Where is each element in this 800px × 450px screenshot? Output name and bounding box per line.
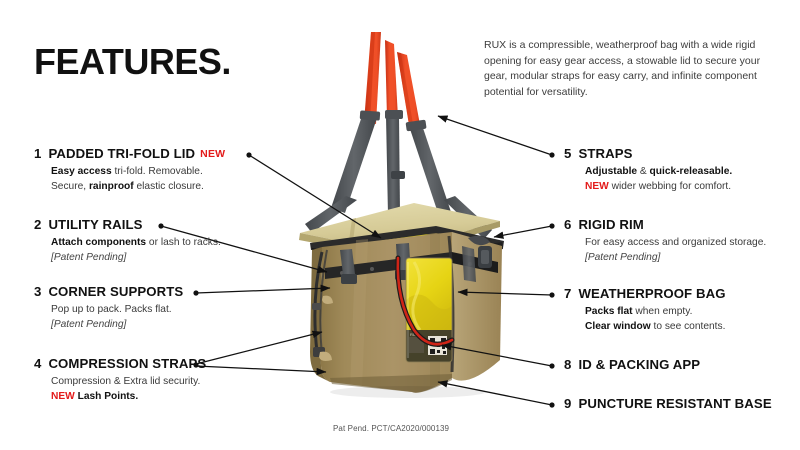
feature-heading-7: 7WEATHERPROOF BAG — [564, 286, 726, 301]
patent-footnote: Pat Pend. PCT/CA2020/000139 — [333, 424, 449, 433]
feature-number-7: 7 — [564, 286, 571, 301]
feature-body-line: Easy access tri-fold. Removable. — [51, 165, 225, 180]
feature-body-7: Packs flat when empty.Clear window to se… — [564, 305, 726, 334]
feature-body-line: For easy access and organized storage. — [585, 236, 766, 251]
feature-item-6: 6RIGID RIM For easy access and organized… — [564, 217, 766, 265]
feature-item-7: 7WEATHERPROOF BAG Packs flat when empty.… — [564, 286, 726, 334]
intro-paragraph: RUX is a compressible, weatherproof bag … — [484, 38, 784, 100]
feature-body-line: Packs flat when empty. — [585, 305, 726, 320]
feature-number-5: 5 — [564, 146, 571, 161]
feature-body-line: Clear window to see contents. — [585, 320, 726, 335]
feature-title-3: CORNER SUPPORTS — [48, 284, 183, 299]
new-badge-1: NEW — [200, 148, 225, 160]
feature-number-3: 3 — [34, 284, 41, 299]
feature-item-2: 2UTILITY RAILS Attach components or lash… — [34, 217, 221, 265]
feature-item-3: 3CORNER SUPPORTS Pop up to pack. Packs f… — [34, 284, 183, 332]
feature-body-line: [Patent Pending] — [585, 251, 766, 266]
feature-heading-5: 5STRAPS — [564, 146, 732, 161]
feature-title-5: STRAPS — [578, 146, 632, 161]
feature-body-5: Adjustable & quick-releasable.NEW wider … — [564, 165, 732, 194]
feature-item-4: 4COMPRESSION STRAPS Compression & Extra … — [34, 356, 206, 404]
feature-number-6: 6 — [564, 217, 571, 232]
feature-title-6: RIGID RIM — [578, 217, 643, 232]
feature-body-3: Pop up to pack. Packs flat.[Patent Pendi… — [34, 303, 183, 332]
feature-body-line: NEW Lash Points. — [51, 390, 206, 405]
feature-number-2: 2 — [34, 217, 41, 232]
feature-body-line: Adjustable & quick-releasable. — [585, 165, 732, 180]
feature-heading-6: 6RIGID RIM — [564, 217, 766, 232]
feature-body-line: Secure, rainproof elastic closure. — [51, 180, 225, 195]
feature-body-line: [Patent Pending] — [51, 318, 183, 333]
feature-number-4: 4 — [34, 356, 41, 371]
feature-body-6: For easy access and organized storage.[P… — [564, 236, 766, 265]
feature-heading-9: 9PUNCTURE RESISTANT BASE — [564, 396, 772, 411]
feature-number-8: 8 — [564, 357, 571, 372]
feature-body-line: Compression & Extra lid security. — [51, 375, 206, 390]
feature-item-9: 9PUNCTURE RESISTANT BASE — [564, 396, 772, 411]
feature-body-line: [Patent Pending] — [51, 251, 221, 266]
feature-body-line: Attach components or lash to racks. — [51, 236, 221, 251]
feature-title-2: UTILITY RAILS — [48, 217, 142, 232]
feature-body-1: Easy access tri-fold. Removable.Secure, … — [34, 165, 225, 194]
feature-title-1: PADDED TRI-FOLD LID — [48, 146, 195, 161]
feature-body-4: Compression & Extra lid security.NEW Las… — [34, 375, 206, 404]
feature-title-7: WEATHERPROOF BAG — [578, 286, 725, 301]
feature-heading-8: 8ID & PACKING APP — [564, 357, 700, 372]
feature-title-4: COMPRESSION STRAPS — [48, 356, 206, 371]
feature-heading-2: 2UTILITY RAILS — [34, 217, 221, 232]
feature-body-line: NEW wider webbing for comfort. — [585, 180, 732, 195]
feature-heading-1: 1PADDED TRI-FOLD LIDNEW — [34, 146, 225, 161]
feature-heading-3: 3CORNER SUPPORTS — [34, 284, 183, 299]
feature-item-8: 8ID & PACKING APP — [564, 357, 700, 372]
feature-number-1: 1 — [34, 146, 41, 161]
feature-body-2: Attach components or lash to racks.[Pate… — [34, 236, 221, 265]
feature-number-9: 9 — [564, 396, 571, 411]
clear-window-graphic: RUX — [406, 258, 452, 362]
infographic-canvas: RUX — [0, 0, 800, 450]
feature-body-line: Pop up to pack. Packs flat. — [51, 303, 183, 318]
page-title: FEATURES. — [34, 44, 231, 80]
feature-item-1: 1PADDED TRI-FOLD LIDNEW Easy access tri-… — [34, 146, 225, 194]
feature-heading-4: 4COMPRESSION STRAPS — [34, 356, 206, 371]
feature-item-5: 5STRAPS Adjustable & quick-releasable.NE… — [564, 146, 732, 194]
feature-title-8: ID & PACKING APP — [578, 357, 700, 372]
feature-title-9: PUNCTURE RESISTANT BASE — [578, 396, 771, 411]
